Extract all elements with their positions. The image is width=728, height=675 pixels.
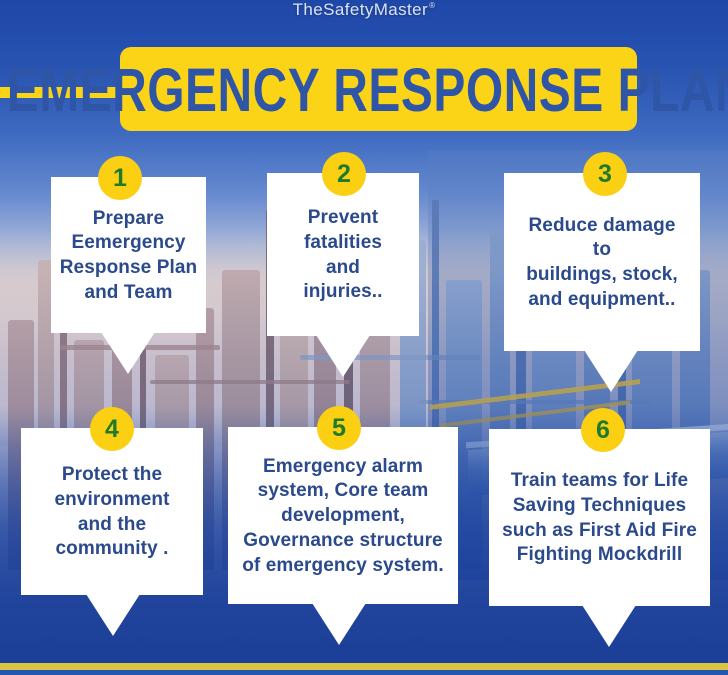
- step-tail-3: [584, 350, 638, 392]
- infographic-poster: TheSafetyMaster® EMERGENCY RESPONSE PLAN…: [0, 0, 728, 675]
- step-card-6[interactable]: Train teams for Life Saving Techniques s…: [489, 429, 710, 606]
- trademark-icon: ®: [429, 1, 435, 10]
- step-card-1[interactable]: Prepare Eemergency Response Plan and Tea…: [51, 177, 206, 333]
- step-badge-5: 5: [317, 406, 361, 450]
- step-tail-2: [316, 335, 370, 377]
- step-tail-6: [582, 605, 636, 647]
- bottom-accent-strip: [0, 663, 728, 670]
- step-number-6: 6: [596, 416, 610, 445]
- step-badge-1: 1: [98, 156, 142, 200]
- step-text-3: Reduce damage to buildings, stock, and e…: [526, 214, 678, 313]
- step-card-3[interactable]: Reduce damage to buildings, stock, and e…: [504, 173, 700, 351]
- step-badge-3: 3: [583, 152, 627, 196]
- step-text-6: Train teams for Life Saving Techniques s…: [502, 469, 697, 568]
- step-number-3: 3: [598, 160, 612, 189]
- step-tail-1: [101, 332, 155, 374]
- step-card-5[interactable]: Emergency alarm system, Core team develo…: [228, 427, 458, 604]
- title-banner: EMERGENCY RESPONSE PLAN: [120, 47, 637, 131]
- step-number-4: 4: [105, 415, 119, 444]
- step-card-4[interactable]: Protect the environment and the communit…: [21, 428, 203, 595]
- page-title: EMERGENCY RESPONSE PLAN: [7, 58, 728, 119]
- step-text-5: Emergency alarm system, Core team develo…: [242, 455, 444, 578]
- step-text-1: Prepare Eemergency Response Plan and Tea…: [60, 207, 198, 306]
- step-number-2: 2: [337, 160, 351, 189]
- step-text-2: Prevent fatalities and injuries..: [303, 206, 382, 305]
- bottom-blue-strip: [0, 670, 728, 675]
- step-badge-6: 6: [581, 408, 625, 452]
- brand-logo-text: TheSafetyMaster: [293, 0, 428, 19]
- step-badge-2: 2: [322, 152, 366, 196]
- step-card-2[interactable]: Prevent fatalities and injuries..: [267, 173, 419, 336]
- step-tail-5: [312, 603, 366, 645]
- step-tail-4: [86, 594, 140, 636]
- step-number-5: 5: [332, 414, 346, 443]
- step-badge-4: 4: [90, 407, 134, 451]
- step-text-4: Protect the environment and the communit…: [54, 463, 169, 562]
- brand-logo: TheSafetyMaster®: [0, 0, 728, 20]
- step-number-1: 1: [113, 164, 127, 193]
